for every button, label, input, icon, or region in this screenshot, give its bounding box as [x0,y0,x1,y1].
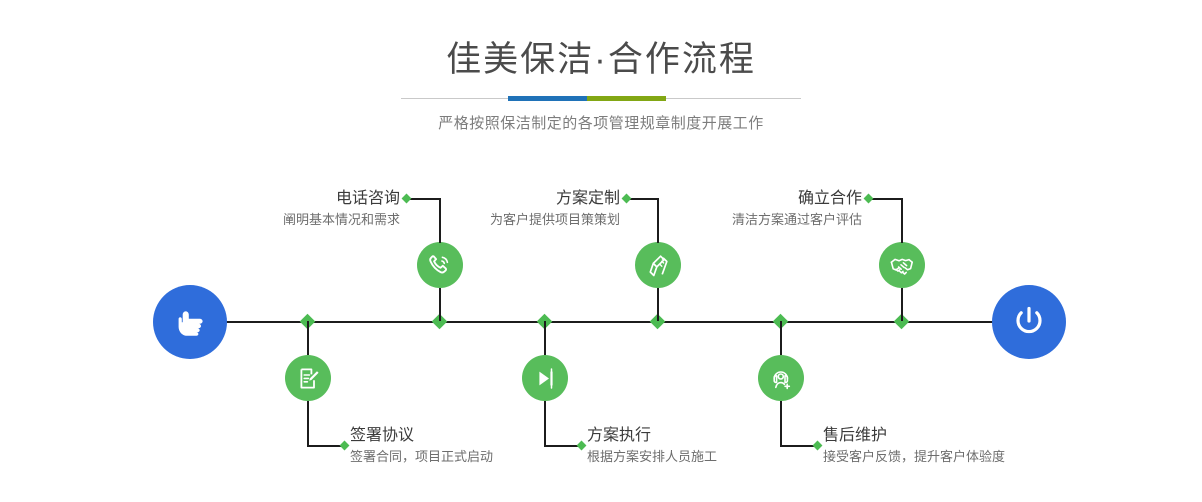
connector-vertical-6 [780,321,782,355]
timeline-end-node [992,285,1066,359]
step-title-6: 售后维护 [823,425,1103,447]
power-icon [1008,301,1050,343]
connector-vertical-4 [544,321,546,355]
step-node-3[interactable] [635,242,681,288]
connector-vertical-1 [439,288,441,321]
step-title-3: 方案定制 [423,188,620,210]
label-anchor-3 [622,194,632,204]
pencil-ruler-icon [646,253,671,278]
process-timeline: 电话咨询 阐明基本情况和需求 签署协议 签署合同，项目正式启动 [0,0,1202,502]
connector-vertical-label-6 [780,401,782,446]
connector-vertical-label-4 [544,401,546,446]
step-label-5: 确立合作 清洁方案通过客户评估 [665,188,862,230]
label-anchor-2 [340,441,350,451]
step-node-4[interactable] [522,355,568,401]
connector-horizontal-label-2 [307,445,343,447]
step-desc-4: 根据方案安排人员施工 [587,447,847,467]
step-desc-2: 签署合同，项目正式启动 [350,447,610,467]
step-title-2: 签署协议 [350,425,610,447]
connector-vertical-label-3 [657,198,659,243]
step-title-1: 电话咨询 [203,188,400,210]
label-anchor-5 [864,194,874,204]
step-title-4: 方案执行 [587,425,847,447]
step-title-5: 确立合作 [665,188,862,210]
support-agent-add-icon [769,366,794,391]
step-desc-1: 阐明基本情况和需求 [203,210,400,230]
step-node-2[interactable] [285,355,331,401]
handshake-icon [889,252,915,278]
timeline-start-node [153,285,227,359]
step-node-6[interactable] [758,355,804,401]
label-anchor-1 [402,194,412,204]
step-node-5[interactable] [879,242,925,288]
connector-horizontal-label-4 [544,445,580,447]
step-desc-5: 清洁方案通过客户评估 [665,210,862,230]
document-edit-icon [296,366,321,391]
step-desc-6: 接受客户反馈，提升客户体验度 [823,447,1103,467]
connector-horizontal-label-5 [869,198,902,200]
step-desc-3: 为客户提供项目策策划 [423,210,620,230]
step-label-1: 电话咨询 阐明基本情况和需求 [203,188,400,230]
pointing-hand-icon [170,302,210,342]
connector-vertical-label-2 [307,401,309,446]
connector-vertical-label-5 [901,198,903,243]
connector-vertical-5 [901,288,903,321]
step-node-1[interactable] [417,242,463,288]
connector-vertical-2 [307,321,309,355]
phone-call-icon [427,252,453,278]
play-forward-icon [533,366,558,391]
step-label-3: 方案定制 为客户提供项目策策划 [423,188,620,230]
connector-vertical-3 [657,288,659,321]
step-label-6: 售后维护 接受客户反馈，提升客户体验度 [823,425,1103,467]
connector-horizontal-label-6 [780,445,816,447]
